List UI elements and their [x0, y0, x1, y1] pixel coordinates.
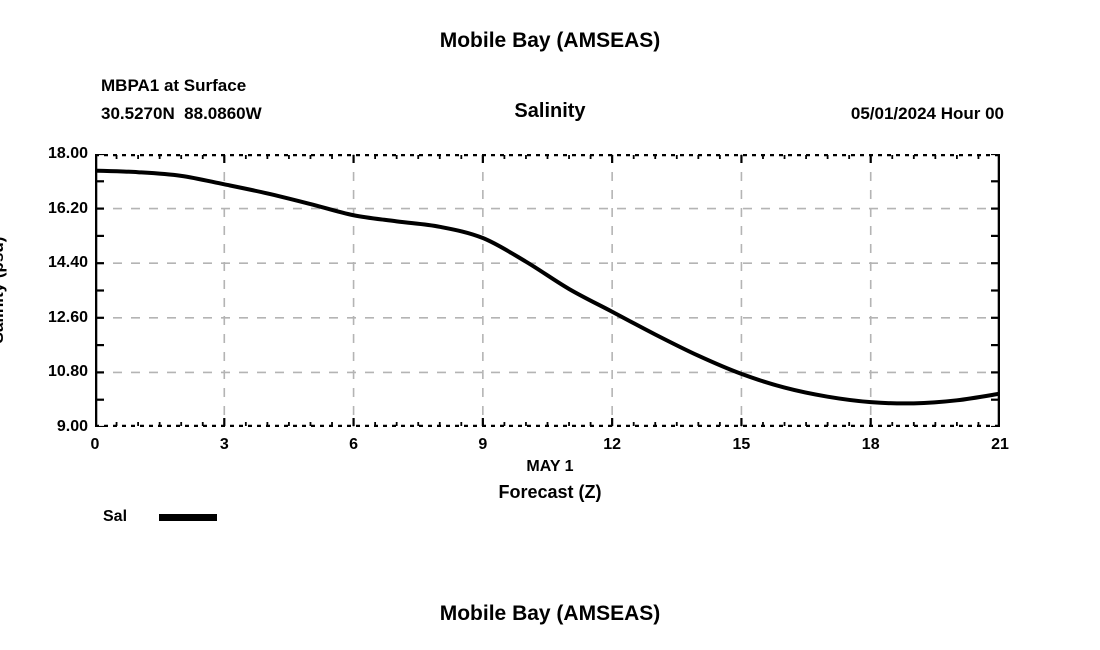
page-title: Mobile Bay (AMSEAS)	[0, 29, 1100, 53]
y-tick-label: 9.00	[0, 418, 88, 436]
x-tick-label: 3	[220, 436, 229, 454]
y-tick-label: 18.00	[0, 145, 88, 163]
x-tick-label: 15	[733, 436, 751, 454]
y-axis-title: Salinity (psu)	[0, 237, 8, 344]
x-tick-label: 6	[349, 436, 358, 454]
y-tick-label: 14.40	[0, 254, 88, 272]
chart-page: Mobile Bay (AMSEAS) MBPA1 at Surface 30.…	[0, 0, 1100, 650]
x-tick-label: 9	[478, 436, 487, 454]
station-label: MBPA1 at Surface	[101, 76, 246, 96]
legend-label: Sal	[103, 508, 159, 526]
run-datetime-label: 05/01/2024 Hour 00	[851, 104, 1004, 124]
x-tick-label: 0	[91, 436, 100, 454]
y-tick-label: 16.20	[0, 200, 88, 218]
x-axis-date-label: MAY 1	[0, 458, 1100, 476]
legend: Sal	[103, 508, 217, 526]
legend-line-swatch	[159, 514, 217, 521]
x-tick-label: 12	[603, 436, 621, 454]
footer-title: Mobile Bay (AMSEAS)	[0, 602, 1100, 626]
x-axis-title: Forecast (Z)	[0, 482, 1100, 503]
x-tick-label: 21	[991, 436, 1009, 454]
salinity-line-chart	[95, 154, 1000, 427]
data-line-sal	[95, 171, 1000, 404]
plot-area	[95, 154, 1000, 427]
y-tick-label: 10.80	[0, 363, 88, 381]
y-tick-label: 12.60	[0, 309, 88, 327]
x-tick-label: 18	[862, 436, 880, 454]
